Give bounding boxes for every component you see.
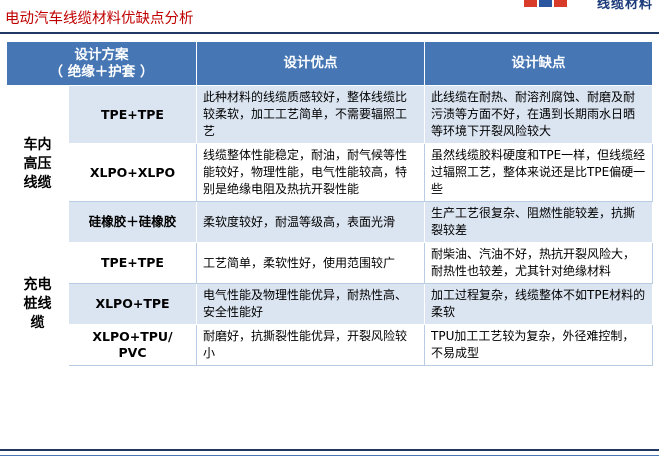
scheme-name: XLPO+TPE: [69, 284, 197, 325]
group-label-charging-pile: 充电 桩线 缆: [7, 243, 69, 366]
scheme-name: XLPO+XLPO: [69, 144, 197, 202]
table-row: XLPO+TPU/ PVC 耐磨好，抗撕裂性能优异，开裂风险较小 TPU加工工艺…: [7, 325, 653, 366]
group-label-invehicle: 车内 高压 线缆: [7, 86, 69, 243]
cons-text: 加工过程复杂，线缆整体不如TPE材料的柔软: [425, 284, 653, 325]
table-row: XLPO+XLPO 线缆整体性能稳定，耐油，耐气候等性能较好，物理性能，电气性能…: [7, 144, 653, 202]
pros-text: 耐磨好，抗撕裂性能优异，开裂风险较小: [197, 325, 425, 366]
scheme-name: TPE+TPE: [69, 243, 197, 284]
column-header-scheme-line1: 设计方案: [13, 47, 190, 64]
group-label-line3: 线缆: [13, 174, 62, 193]
bottom-divider: [0, 449, 659, 451]
scheme-name-line2: PVC: [75, 345, 190, 361]
column-header-scheme: 设计方案 （ 绝缘＋护套 ）: [7, 42, 197, 86]
column-header-pros: 设计优点: [197, 42, 425, 86]
group-label-line1: 充电: [13, 276, 62, 295]
group-label-line2: 高压: [13, 155, 62, 174]
cons-text: 此线缆在耐热、耐溶剂腐蚀、耐磨及耐污渍等方面不好，在遇到长期雨水日晒等环境下开裂…: [425, 86, 653, 144]
pros-text: 柔软度较好，耐温等级高，表面光滑: [197, 202, 425, 243]
table-row: 车内 高压 线缆 TPE+TPE 此种材料的线缆质感较好，整体线缆比较柔软，加工…: [7, 86, 653, 144]
page-title: 电动汽车线缆材料优缺点分析: [5, 9, 194, 29]
logo-blocks-icon: [524, 0, 567, 7]
cons-text: 生产工艺很复杂、阻燃性能较差，抗撕裂较差: [425, 202, 653, 243]
logo-text: 线缆材料: [597, 0, 653, 10]
pros-text: 电气性能及物理性能优异，耐热性高、安全性能好: [197, 284, 425, 325]
group-label-line1: 车内: [13, 136, 62, 155]
scheme-name: XLPO+TPU/ PVC: [69, 325, 197, 366]
bottom-divider-secondary: [0, 455, 659, 456]
pros-text: 此种材料的线缆质感较好，整体线缆比较柔软，加工工艺简单，不需要辐照工艺: [197, 86, 425, 144]
column-header-cons: 设计缺点: [425, 42, 653, 86]
table-header-row: 设计方案 （ 绝缘＋护套 ） 设计优点 设计缺点: [7, 42, 653, 86]
group-label-line2: 桩线: [13, 295, 62, 314]
slide-page: 线缆材料 电动汽车线缆材料优缺点分析 设计方案 （ 绝缘＋护套 ） 设计优点 设…: [0, 0, 659, 459]
cons-text: 耐柴油、汽油不好，热抗开裂风险大，耐热性也较差，尤其针对绝缘材料: [425, 243, 653, 284]
pros-text: 线缆整体性能稳定，耐油，耐气候等性能较好，物理性能，电气性能较高，特别是绝缘电阻…: [197, 144, 425, 202]
analysis-table: 设计方案 （ 绝缘＋护套 ） 设计优点 设计缺点 车内 高压 线缆 TPE+TP…: [6, 41, 653, 366]
pros-text: 工艺简单，柔软性好，使用范围较广: [197, 243, 425, 284]
table-row: 充电 桩线 缆 TPE+TPE 工艺简单，柔软性好，使用范围较广 耐柴油、汽油不…: [7, 243, 653, 284]
group-label-line3: 缆: [13, 314, 62, 333]
table-row: XLPO+TPE 电气性能及物理性能优异，耐热性高、安全性能好 加工过程复杂，线…: [7, 284, 653, 325]
cons-text: TPU加工工艺较为复杂，外径难控制，不易成型: [425, 325, 653, 366]
column-header-scheme-line2: （ 绝缘＋护套 ）: [13, 64, 190, 81]
table-row: 硅橡胶＋硅橡胶 柔软度较好，耐温等级高，表面光滑 生产工艺很复杂、阻燃性能较差，…: [7, 202, 653, 243]
scheme-name: 硅橡胶＋硅橡胶: [69, 202, 197, 243]
scheme-name: TPE+TPE: [69, 86, 197, 144]
scheme-name-line1: XLPO+TPU/: [75, 329, 190, 345]
cons-text: 虽然线缆胶料硬度和TPE一样，但线缆经过辐照工艺，整体来说还是比TPE偏硬一些: [425, 144, 653, 202]
title-divider: [0, 32, 659, 34]
